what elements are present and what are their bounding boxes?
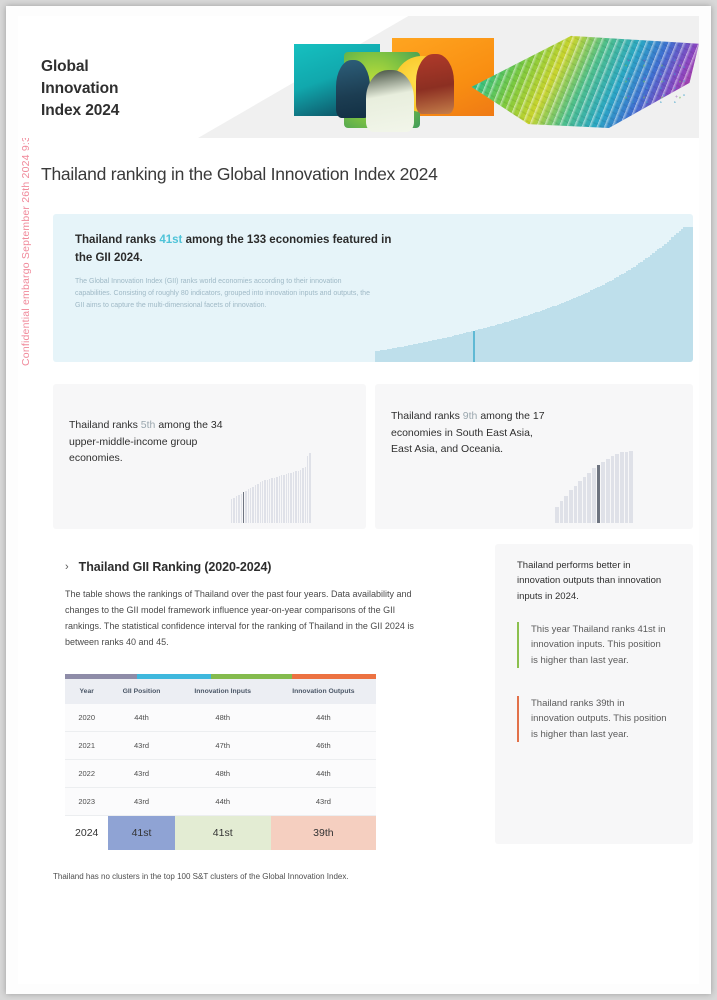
chart-bar — [560, 501, 564, 523]
region-group-rank: 9th — [463, 410, 478, 422]
chart-bar — [269, 479, 270, 523]
chart-bar — [241, 494, 242, 523]
chart-bar — [283, 475, 284, 523]
column-header-year: Year — [65, 679, 108, 704]
cell-year: 2023 — [65, 788, 108, 816]
chart-bar — [305, 467, 306, 523]
cell-innovation-inputs: 48th — [175, 704, 271, 732]
chart-bar — [620, 452, 624, 523]
cell-year: 2024 — [65, 816, 108, 851]
page-frame: Confidential embargo September 26th 2024… — [6, 6, 711, 994]
chart-bar — [255, 485, 256, 523]
performance-sidebar: Thailand performs better in innovation o… — [495, 544, 693, 844]
chart-bar — [564, 496, 568, 523]
table-row-highlighted: 202441st41st39th — [65, 816, 376, 851]
chart-bar — [271, 478, 272, 523]
income-group-chart — [231, 453, 311, 523]
chart-bar — [262, 481, 263, 523]
sidebar-lead-text: Thailand performs better in innovation o… — [517, 558, 667, 604]
region-group-card: Thailand ranks 9th among the 17 economie… — [375, 384, 693, 529]
chart-bar — [279, 476, 280, 523]
chart-bar — [245, 491, 246, 523]
gii-ranking-section-header[interactable]: › Thailand GII Ranking (2020-2024) — [65, 560, 271, 574]
cell-innovation-outputs: 44th — [271, 704, 376, 732]
banner-person-2 — [366, 70, 414, 132]
table-row: 202143rd47th46th — [65, 732, 376, 760]
chart-bar — [606, 459, 610, 523]
header-banner-image — [286, 26, 699, 131]
section-description: The table shows the rankings of Thailand… — [65, 586, 425, 650]
chart-bar — [569, 490, 573, 523]
document-header: Global Innovation Index 2024 — [18, 16, 699, 138]
chart-bar — [587, 473, 591, 523]
table-body: 202044th48th44th202143rd47th46th202243rd… — [65, 704, 376, 850]
cell-innovation-outputs: 46th — [271, 732, 376, 760]
chart-bar — [300, 470, 301, 523]
cell-innovation-outputs: 43rd — [271, 788, 376, 816]
table-header-row: Year GII Position Innovation Inputs Inno… — [65, 679, 376, 704]
income-group-pre: Thailand ranks — [69, 419, 141, 431]
chart-bar-highlighted — [243, 492, 244, 523]
page-title: Thailand ranking in the Global Innovatio… — [41, 164, 438, 185]
strip-innovation-inputs — [211, 674, 292, 679]
table-color-strip — [65, 674, 376, 679]
cell-gii-position: 43rd — [108, 760, 174, 788]
chart-bar-highlighted — [597, 465, 601, 523]
banner-topography-speckles — [616, 56, 686, 108]
chart-bar — [252, 487, 253, 523]
brand-line-2: Innovation — [41, 78, 119, 100]
chart-bar — [274, 478, 275, 524]
column-header-innovation-inputs: Innovation Inputs — [175, 679, 271, 704]
chart-bar — [276, 477, 277, 523]
chart-bar — [236, 496, 237, 523]
chart-bar — [290, 473, 291, 523]
chart-bar — [267, 480, 268, 523]
chart-bar — [592, 468, 596, 523]
chart-bar — [295, 471, 296, 523]
chart-bar — [555, 507, 559, 523]
chart-bar — [281, 475, 282, 523]
section-title: Thailand GII Ranking (2020-2024) — [79, 560, 272, 574]
cell-gii-position: 41st — [108, 816, 174, 851]
chart-bar — [293, 472, 294, 523]
region-group-text: Thailand ranks 9th among the 17 economie… — [391, 408, 551, 458]
chart-bar — [307, 456, 308, 523]
hero-headline-pre: Thailand ranks — [75, 234, 159, 246]
brand-title: Global Innovation Index 2024 — [41, 56, 119, 122]
strip-innovation-outputs — [292, 674, 376, 679]
table-row: 202343rd44th43rd — [65, 788, 376, 816]
banner-person-1 — [336, 60, 370, 118]
chart-bar — [248, 489, 249, 523]
region-group-chart — [555, 451, 633, 523]
chart-bar — [611, 456, 615, 523]
strip-year — [65, 674, 137, 679]
cell-gii-position: 44th — [108, 704, 174, 732]
clusters-footnote: Thailand has no clusters in the top 100 … — [53, 872, 349, 881]
chart-bar — [625, 452, 629, 523]
chart-bar — [583, 477, 587, 523]
cell-gii-position: 43rd — [108, 732, 174, 760]
cell-innovation-inputs: 47th — [175, 732, 271, 760]
brand-line-3: Index 2024 — [41, 100, 119, 122]
chart-bar — [257, 484, 258, 523]
cell-innovation-inputs: 44th — [175, 788, 271, 816]
chart-bar — [629, 451, 633, 523]
cell-innovation-inputs: 48th — [175, 760, 271, 788]
chart-bar — [233, 498, 234, 523]
income-group-card: Thailand ranks 5th among the 34 upper-mi… — [53, 384, 366, 529]
cell-innovation-outputs: 44th — [271, 760, 376, 788]
hero-rank-value: 41st — [159, 234, 182, 246]
chart-bar — [601, 462, 605, 523]
chart-bar — [238, 495, 239, 523]
gii-ranking-table: Year GII Position Innovation Inputs Inno… — [65, 674, 376, 850]
hero-headline: Thailand ranks 41st among the 133 econom… — [75, 232, 405, 268]
cell-innovation-outputs: 39th — [271, 816, 376, 851]
hero-description: The Global Innovation Index (GII) ranks … — [75, 276, 380, 312]
callout-innovation-inputs: This year Thailand ranks 41st in innovat… — [517, 622, 667, 668]
chart-bar — [615, 454, 619, 523]
chart-bar — [309, 453, 310, 523]
chevron-right-icon[interactable]: › — [65, 561, 69, 573]
chart-bar — [286, 474, 287, 523]
chart-bar — [574, 486, 578, 523]
chart-bar — [302, 468, 303, 523]
chart-bar — [578, 481, 582, 523]
column-header-innovation-outputs: Innovation Outputs — [271, 679, 376, 704]
callout-innovation-outputs: Thailand ranks 39th in innovation output… — [517, 696, 667, 742]
chart-bar — [264, 480, 265, 523]
income-group-rank: 5th — [141, 419, 156, 431]
cell-innovation-inputs: 41st — [175, 816, 271, 851]
table-row: 202044th48th44th — [65, 704, 376, 732]
chart-bar — [288, 473, 289, 523]
cell-year: 2021 — [65, 732, 108, 760]
cell-gii-position: 43rd — [108, 788, 174, 816]
column-header-gii-position: GII Position — [108, 679, 174, 704]
chart-bar — [298, 471, 299, 524]
strip-gii-position — [137, 674, 212, 679]
cell-year: 2020 — [65, 704, 108, 732]
document-page: Confidential embargo September 26th 2024… — [18, 16, 699, 984]
banner-person-3 — [416, 54, 454, 114]
chart-bar — [231, 499, 232, 523]
chart-bar — [260, 482, 261, 523]
chart-bar — [691, 227, 693, 362]
brand-line-1: Global — [41, 56, 119, 78]
table-row: 202243rd48th44th — [65, 760, 376, 788]
chart-bar — [250, 488, 251, 523]
hero-ranking-chart — [375, 227, 693, 362]
income-group-text: Thailand ranks 5th among the 34 upper-mi… — [69, 417, 229, 467]
hero-card: Thailand ranks 41st among the 133 econom… — [53, 214, 693, 362]
region-group-pre: Thailand ranks — [391, 410, 463, 422]
cell-year: 2022 — [65, 760, 108, 788]
